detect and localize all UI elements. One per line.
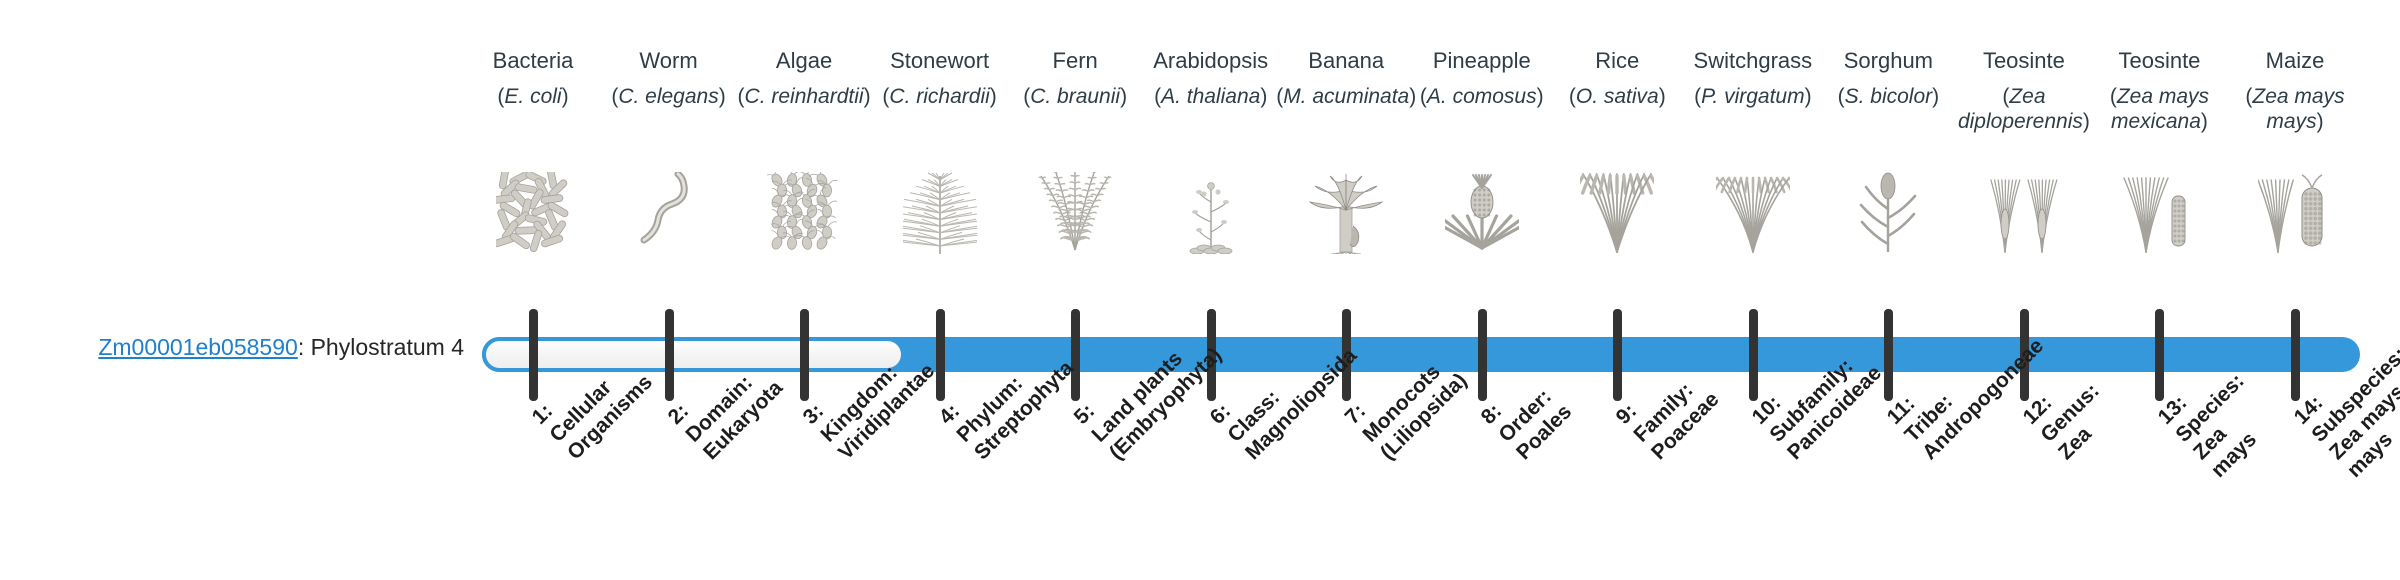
species-binomial: C. richardii [889,85,989,108]
paren-open: ( [1569,85,1576,108]
species-common-name: Worm [594,48,744,74]
species-column: Rice(O. sativa) [1542,48,1692,109]
species-column: Teosinte(Zea mays mexicana) [2084,48,2234,134]
algae-icon [767,172,841,254]
bacteria-icon [496,172,570,254]
teosinte-mex-icon [2122,172,2196,254]
species-scientific-name: (E. coli) [458,84,608,109]
pineapple-icon [1445,172,1519,254]
paren-close: ) [1932,85,1939,108]
species-scientific-name: (C. reinhardtii) [729,84,879,109]
banana-icon [1309,172,1383,254]
species-binomial: O. sativa [1576,85,1659,108]
species-common-name: Bacteria [458,48,608,74]
species-common-name: Sorghum [1813,48,1963,74]
species-common-name: Teosinte [1949,48,2099,74]
paren-close: ) [1120,85,1127,108]
species-common-name: Switchgrass [1678,48,1828,74]
species-scientific-name: (Zea diploperennis) [1949,84,2099,134]
worm-icon [632,172,706,254]
teosinte-diplo-icon [1987,172,2061,254]
paren-close: ) [2201,110,2208,133]
species-column: Maize(Zea mays mays) [2220,48,2370,134]
paren-open: ( [1420,85,1427,108]
species-binomial: C. reinhardtii [745,85,864,108]
maize-icon [2258,172,2332,254]
gene-phylostratum-value: Phylostratum 4 [311,334,464,360]
species-column: Fern(C. braunii) [1000,48,1150,109]
species-column: Banana(M. acuminata) [1271,48,1421,109]
species-scientific-name: (M. acuminata) [1271,84,1421,109]
paren-open: ( [1154,85,1161,108]
species-binomial: A. thaliana [1161,85,1260,108]
species-common-name: Banana [1271,48,1421,74]
species-scientific-name: (P. virgatum) [1678,84,1828,109]
paren-close: ) [1659,85,1666,108]
paren-close: ) [719,85,726,108]
fern-icon [1038,172,1112,254]
gene-phylostratum-label: Zm00001eb058590: Phylostratum 4 [44,334,464,361]
species-common-name: Teosinte [2084,48,2234,74]
species-binomial: P. virgatum [1701,85,1805,108]
paren-close: ) [562,85,569,108]
species-scientific-name: (C. braunii) [1000,84,1150,109]
species-binomial: Zea mays mays [2252,85,2344,133]
species-column: Sorghum(S. bicolor) [1813,48,1963,109]
species-binomial: Zea mays mexicana [2111,85,2209,133]
species-common-name: Rice [1542,48,1692,74]
species-common-name: Stonewort [865,48,1015,74]
species-binomial: C. braunii [1030,85,1120,108]
species-scientific-name: (C. richardii) [865,84,1015,109]
sorghum-icon [1851,172,1925,254]
species-common-name: Maize [2220,48,2370,74]
species-binomial: C. elegans [618,85,718,108]
species-common-name: Pineapple [1407,48,1557,74]
gene-label-separator: : [298,334,311,360]
paren-open: ( [738,85,745,108]
arabidopsis-icon [1174,172,1248,254]
species-binomial: S. bicolor [1845,85,1933,108]
species-scientific-name: (Zea mays mays) [2220,84,2370,134]
paren-close: ) [2317,110,2324,133]
species-common-name: Arabidopsis [1136,48,1286,74]
species-common-name: Fern [1000,48,1150,74]
paren-close: ) [990,85,997,108]
species-column: Worm(C. elegans) [594,48,744,109]
species-scientific-name: (O. sativa) [1542,84,1692,109]
species-column: Arabidopsis(A. thaliana) [1136,48,1286,109]
paren-open: ( [2110,85,2117,108]
species-column: Algae(C. reinhardtii) [729,48,879,109]
species-column: Teosinte(Zea diploperennis) [1949,48,2099,134]
stonewort-icon [903,172,977,254]
species-binomial: M. acuminata [1283,85,1409,108]
phylostratum-tick [529,309,538,401]
species-column: Pineapple(A. comosus) [1407,48,1557,109]
species-scientific-name: (C. elegans) [594,84,744,109]
species-scientific-name: (A. comosus) [1407,84,1557,109]
species-common-name: Algae [729,48,879,74]
species-column: Bacteria(E. coli) [458,48,608,109]
species-binomial: A. comosus [1427,85,1537,108]
gene-id-link[interactable]: Zm00001eb058590 [98,334,298,360]
species-binomial: Zea diploperennis [1958,85,2083,133]
phylostratigraphy-figure: Zm00001eb058590: Phylostratum 4 Bacteria… [0,0,2400,580]
rice-icon [1580,172,1654,254]
paren-open: ( [1838,85,1845,108]
species-scientific-name: (A. thaliana) [1136,84,1286,109]
species-binomial: E. coli [504,85,561,108]
species-scientific-name: (Zea mays mexicana) [2084,84,2234,134]
species-scientific-name: (S. bicolor) [1813,84,1963,109]
species-column: Switchgrass(P. virgatum) [1678,48,1828,109]
paren-close: ) [1805,85,1812,108]
paren-close: ) [1260,85,1267,108]
switchgrass-icon [1716,172,1790,254]
species-column: Stonewort(C. richardii) [865,48,1015,109]
